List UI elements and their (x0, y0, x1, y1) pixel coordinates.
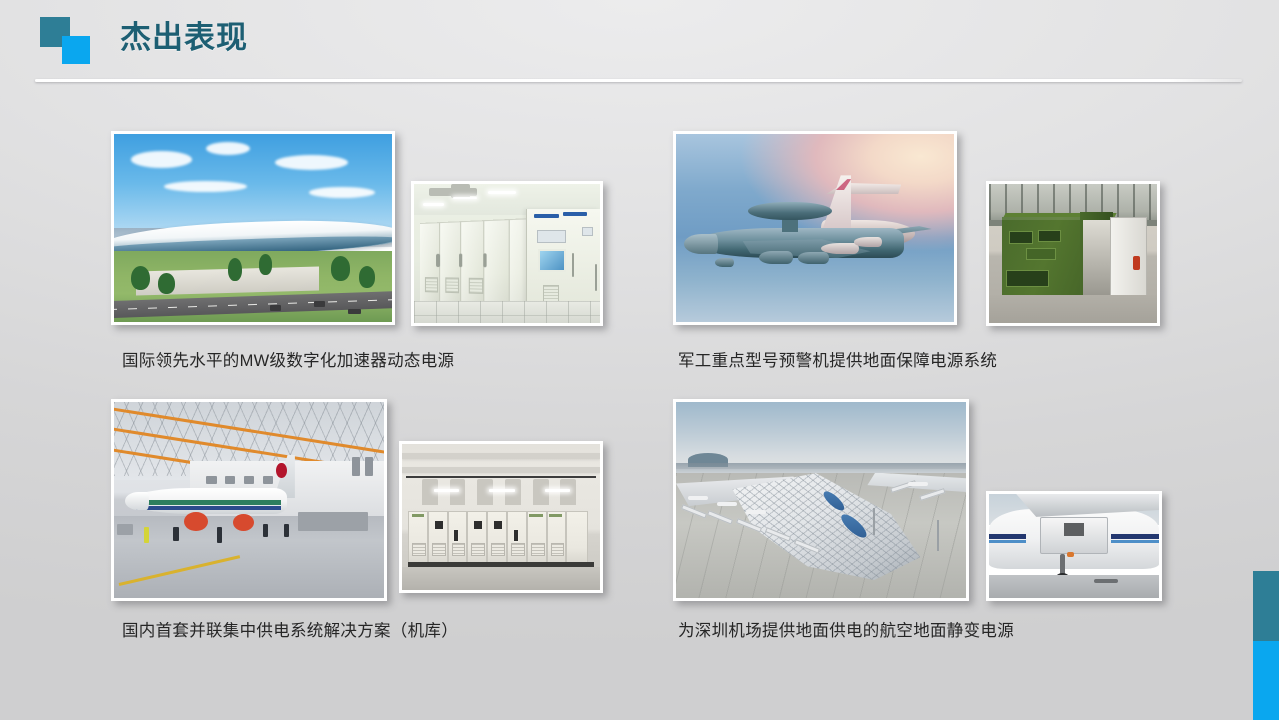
cabinet-handle (595, 264, 597, 291)
cabinet-meter (453, 529, 459, 542)
livery-stripe-dark (989, 534, 1026, 539)
cloud-shape (206, 142, 250, 155)
tree-shape (131, 266, 150, 290)
aircraft-engine (798, 252, 829, 263)
cabinet-label-strip (563, 212, 586, 216)
cabinet-vent (425, 277, 438, 293)
aircraft-nose (684, 234, 717, 255)
shelter-interior-panel (1083, 220, 1110, 295)
aircraft-ground-power-photo (986, 491, 1162, 601)
aircraft-hangar-photo (111, 399, 387, 601)
slide-canvas: 杰出表现 (0, 0, 1279, 720)
apron-light-mast (873, 508, 875, 535)
shenzhen-airport-terminal-photo (673, 399, 969, 601)
floor-layer (414, 301, 600, 323)
apron-ground-layer (989, 575, 1159, 598)
accelerator-facility-exterior-photo (111, 131, 395, 325)
cabinet-handle (436, 254, 440, 267)
wall-window (206, 476, 217, 484)
caption-accelerator: 国际领先水平的MW级数字化加速器动态电源 (122, 350, 454, 372)
car-shape (348, 309, 362, 315)
wall-window (352, 457, 360, 477)
exhaust-duct (422, 479, 438, 505)
aircraft-pod (821, 243, 860, 254)
floor-layer (402, 567, 600, 590)
cabinet-indicator-panel (537, 230, 566, 243)
tree-shape (331, 256, 350, 280)
cabinet-meter (513, 529, 519, 542)
exhaust-duct (533, 479, 549, 505)
ground-layer (989, 295, 1157, 323)
cabinet-label-strip (534, 214, 559, 218)
maintenance-platform (298, 512, 368, 532)
cabinet-vent (471, 543, 485, 556)
parked-aircraft (746, 510, 766, 514)
edge-accent-segment-bottom (1253, 641, 1279, 720)
worker-figure (263, 524, 268, 538)
caption-shenzhen: 为深圳机场提供地面供电的航空地面静变电源 (678, 620, 1014, 642)
parked-aircraft (717, 502, 737, 506)
exhaust-duct (450, 479, 466, 505)
ground-vehicle (117, 524, 133, 536)
cabinet-vent (551, 543, 565, 556)
ceiling-beam (402, 467, 600, 473)
worker-figure (173, 527, 178, 541)
title-divider (35, 79, 1242, 82)
tree-shape (259, 254, 273, 275)
logo-square-light-icon (62, 36, 90, 64)
worker-figure (217, 527, 222, 543)
cabinet-vent (412, 543, 426, 556)
accelerator-power-cabinets-photo (411, 181, 603, 326)
worker-figure (284, 524, 289, 538)
cloud-shape (309, 187, 376, 198)
tree-shape (228, 258, 242, 281)
cabinet-vent (511, 543, 525, 556)
ceiling-lamp-shape (453, 197, 477, 200)
cabinet-meter (473, 520, 483, 530)
shelter-lower-vent (1006, 270, 1050, 287)
main-cabinet-shape (526, 209, 600, 315)
ceiling-beam (402, 453, 600, 459)
parked-aircraft (908, 482, 928, 486)
cabinet-vent (432, 543, 446, 556)
exhaust-duct (505, 479, 521, 505)
wall-window (263, 476, 274, 484)
cabinet-handle (482, 253, 486, 267)
car-shape (314, 301, 325, 307)
military-green-shelter-photo (986, 181, 1160, 326)
ceiling-duct-shape (451, 184, 470, 198)
cabinet-switch-box (582, 227, 592, 237)
livery-stripe-blue (136, 506, 282, 510)
caption-hangar: 国内首套并联集中供电系统解决方案（机库） (122, 620, 458, 642)
cabinet-meter (434, 520, 444, 530)
cabinet-label-strip (549, 514, 563, 517)
cabinet-vent (468, 277, 482, 294)
edge-accent-segment-top (1253, 571, 1279, 641)
ceiling-lamp-shape (488, 191, 516, 194)
car-shape (270, 305, 281, 311)
tree-shape (359, 266, 376, 289)
awacs-aircraft-photo (673, 131, 957, 325)
shelter-vent-grille (1038, 230, 1062, 243)
cabinet-meter (493, 520, 503, 530)
page-title: 杰出表现 (120, 18, 248, 58)
ceiling-lamp-shape (489, 489, 515, 492)
parked-aircraft (688, 496, 708, 500)
livery-stripe-light (989, 540, 1026, 543)
ceiling-pipe (406, 476, 596, 478)
ceiling-lamp-shape (423, 203, 443, 206)
slide-title-bar: 杰出表现 (0, 0, 1279, 92)
cabinet-vent (452, 543, 466, 556)
ground-power-cable (1067, 552, 1074, 557)
shelter-access-hatch (1026, 248, 1056, 261)
livery-stripe-dark (1111, 534, 1159, 539)
edge-accent-bar (1253, 571, 1279, 720)
caption-awacs: 军工重点型号预警机提供地面保障电源系统 (678, 350, 997, 372)
cloud-shape (131, 151, 192, 168)
cabinet-vent (491, 543, 505, 556)
livery-stripe-green (136, 500, 282, 505)
cabinet-vent (445, 277, 458, 294)
shelter-vent-grille (1009, 231, 1033, 244)
exhaust-duct (477, 479, 493, 505)
cabinet-vent (531, 543, 545, 556)
airline-tail-logo (276, 463, 287, 479)
worker-figure (144, 527, 149, 543)
power-panel-window (1064, 523, 1084, 535)
wall-window (225, 476, 236, 484)
livery-stripe-light (1111, 540, 1159, 543)
fire-extinguisher-icon (1133, 256, 1140, 270)
hangar-power-cabinets-photo (399, 441, 603, 593)
power-cabinet (566, 511, 588, 564)
cabinet-handle (572, 253, 574, 276)
cabinet-door (484, 220, 509, 307)
cabinet-handle (458, 254, 462, 267)
exhaust-duct (560, 479, 576, 505)
cabinet-label-strip (412, 514, 424, 517)
cabinet-label-strip (529, 514, 543, 517)
cloud-shape (275, 155, 347, 170)
ceiling-lamp-shape (434, 489, 460, 492)
aircraft-pod (854, 237, 882, 246)
aircraft-landing-gear (715, 258, 734, 267)
cabinet-hmi-screen (538, 249, 566, 272)
aircraft-nose (125, 492, 149, 510)
aircraft-engine (759, 251, 792, 264)
tree-shape (158, 273, 175, 294)
wall-window (244, 476, 255, 484)
wall-window (365, 457, 373, 477)
apron-light-mast (937, 520, 939, 551)
shelter-open-door (1110, 217, 1147, 298)
ceiling-lamp-shape (545, 489, 571, 492)
ground-equipment (1094, 579, 1118, 583)
